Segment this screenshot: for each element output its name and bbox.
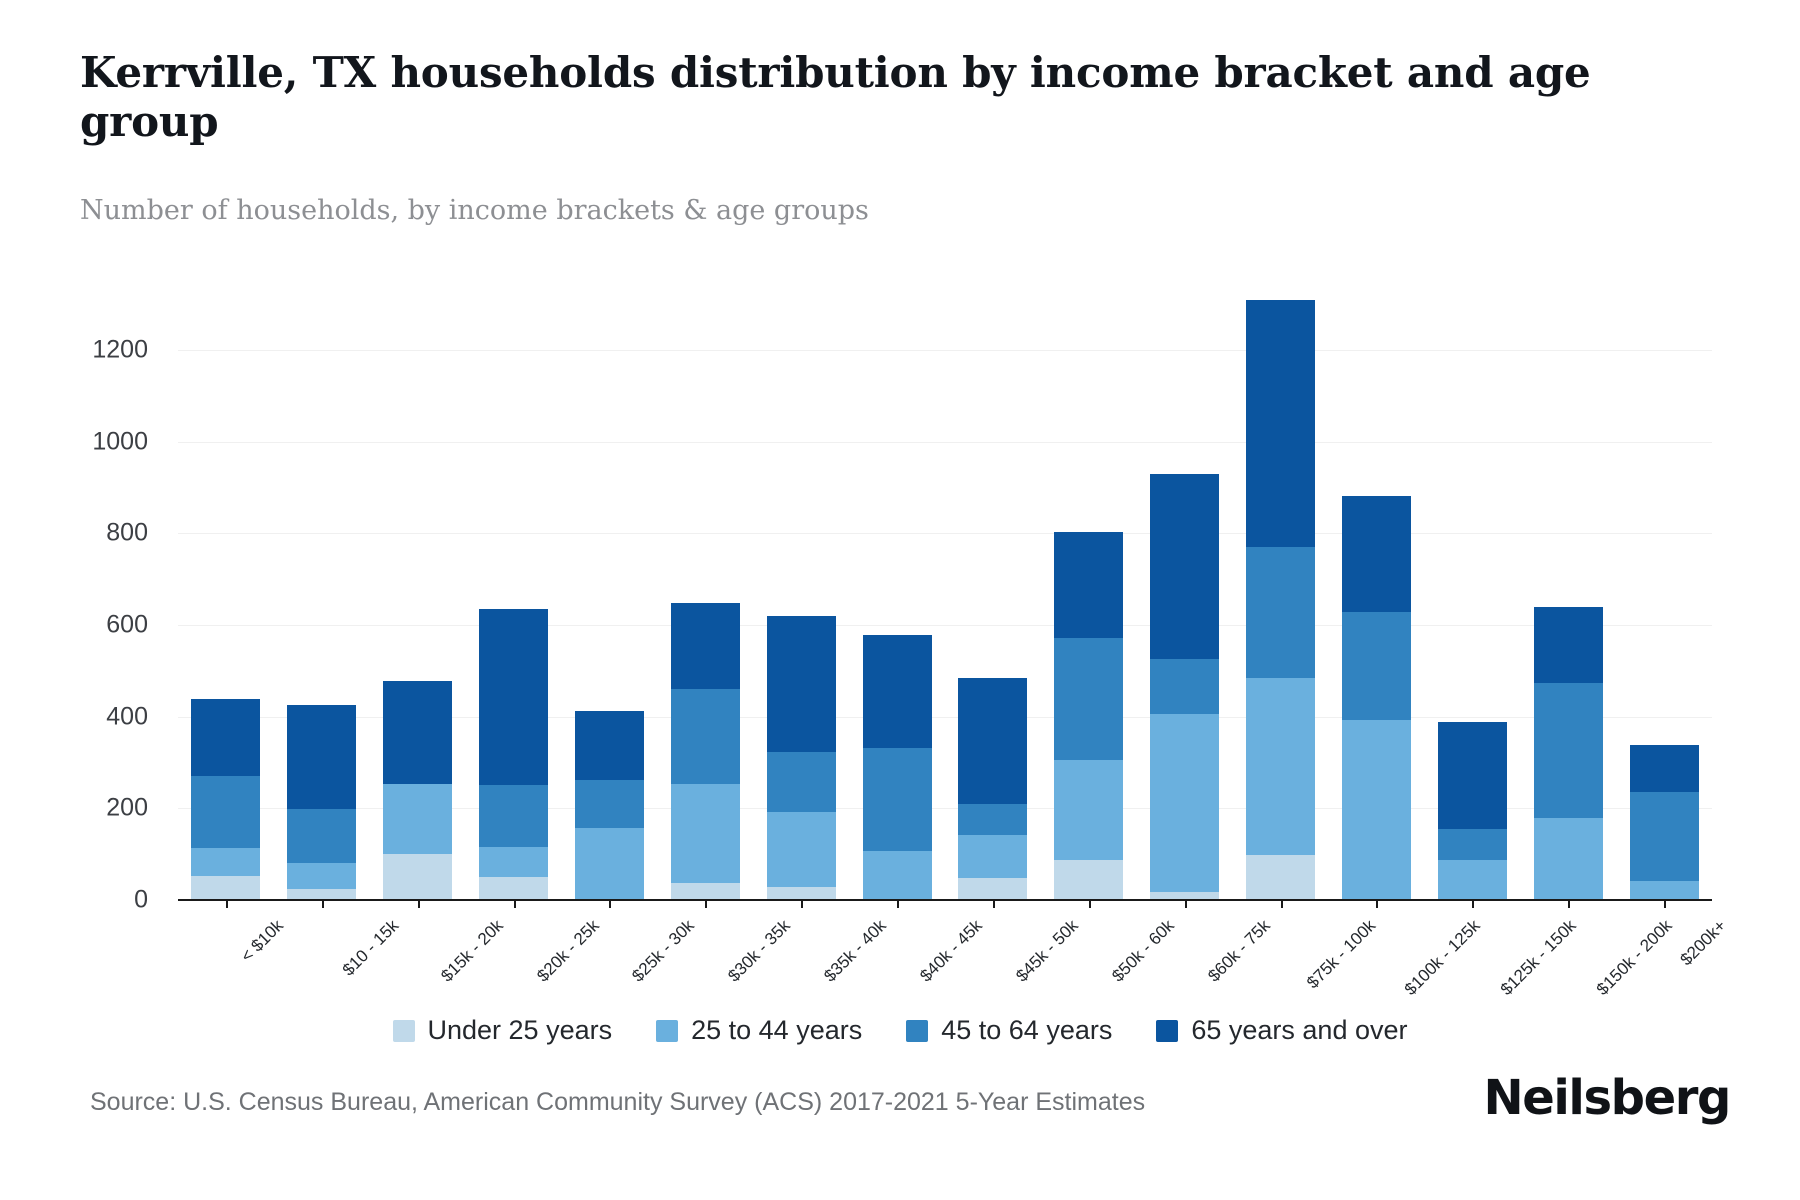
plot-area: < $10k$10 - 15k$15k - 20k$20k - 25k$25k … xyxy=(178,286,1712,900)
bar-group[interactable] xyxy=(1246,300,1315,900)
x-axis-tick-label: $30k - 35k xyxy=(725,916,795,986)
y-axis-tick-label: 600 xyxy=(8,611,148,640)
bar-group[interactable] xyxy=(1150,474,1219,900)
x-axis-line xyxy=(178,899,1712,901)
bar-group[interactable] xyxy=(191,699,260,900)
brand-logo: Neilsberg xyxy=(1483,1070,1730,1126)
x-axis-tick-label: $45k - 50k xyxy=(1012,916,1082,986)
bar-group[interactable] xyxy=(1054,532,1123,900)
bar-group[interactable] xyxy=(863,635,932,900)
y-axis-tick-label: 400 xyxy=(8,702,148,731)
legend-label: 65 years and over xyxy=(1191,1015,1407,1046)
bar-segment[interactable] xyxy=(863,851,932,900)
bar-group[interactable] xyxy=(1534,607,1603,900)
bar-segment[interactable] xyxy=(383,681,452,784)
bar-segment[interactable] xyxy=(767,887,836,900)
bar-group[interactable] xyxy=(383,681,452,900)
bar-segment[interactable] xyxy=(1246,547,1315,678)
bar-segment[interactable] xyxy=(479,847,548,877)
bar-segment[interactable] xyxy=(1054,760,1123,860)
page-subtitle: Number of households, by income brackets… xyxy=(80,195,1480,227)
bar-segment[interactable] xyxy=(671,883,740,900)
x-axis-tick xyxy=(705,900,707,908)
x-axis-tick xyxy=(1568,900,1570,908)
legend-label: Under 25 years xyxy=(428,1015,613,1046)
y-axis-tick-label: 0 xyxy=(8,886,148,915)
bar-segment[interactable] xyxy=(1150,714,1219,891)
x-axis-tick xyxy=(418,900,420,908)
y-axis-tick-label: 200 xyxy=(8,794,148,823)
x-axis-tick-label: $35k - 40k xyxy=(820,916,890,986)
bar-segment[interactable] xyxy=(479,609,548,785)
x-axis-tick xyxy=(1281,900,1283,908)
x-axis-tick xyxy=(1376,900,1378,908)
x-axis-tick xyxy=(993,900,995,908)
bar-segment[interactable] xyxy=(1342,612,1411,721)
legend-label: 45 to 64 years xyxy=(941,1015,1112,1046)
legend-swatch-icon xyxy=(1156,1020,1178,1042)
bar-group[interactable] xyxy=(1438,722,1507,900)
bar-group[interactable] xyxy=(287,705,356,900)
bar-segment[interactable] xyxy=(671,689,740,784)
bar-segment[interactable] xyxy=(958,678,1027,804)
bar-segment[interactable] xyxy=(191,848,260,876)
x-axis-tick-label: $25k - 30k xyxy=(629,916,699,986)
chart-page: Kerrville, TX households distribution by… xyxy=(0,0,1800,1200)
y-axis-tick-label: 1000 xyxy=(8,427,148,456)
bar-group[interactable] xyxy=(671,603,740,900)
bar-series-container xyxy=(178,286,1712,900)
page-title: Kerrville, TX households distribution by… xyxy=(80,48,1640,146)
bar-group[interactable] xyxy=(767,616,836,900)
bar-group[interactable] xyxy=(958,678,1027,900)
bar-segment[interactable] xyxy=(1246,855,1315,900)
bar-segment[interactable] xyxy=(863,748,932,851)
bar-segment[interactable] xyxy=(479,785,548,847)
bar-segment[interactable] xyxy=(1054,532,1123,638)
x-axis-tick-label: < $10k xyxy=(237,916,288,967)
bar-segment[interactable] xyxy=(1246,678,1315,855)
bar-segment[interactable] xyxy=(287,809,356,863)
bar-segment[interactable] xyxy=(767,752,836,812)
bar-segment[interactable] xyxy=(767,616,836,752)
x-axis-tick-label: $10 - 15k xyxy=(339,916,403,980)
bar-segment[interactable] xyxy=(1534,607,1603,684)
x-axis-tick-label: $15k - 20k xyxy=(437,916,507,986)
legend-swatch-icon xyxy=(906,1020,928,1042)
legend-swatch-icon xyxy=(393,1020,415,1042)
bar-segment[interactable] xyxy=(1534,683,1603,818)
x-axis-tick xyxy=(514,900,516,908)
bar-segment[interactable] xyxy=(287,863,356,888)
y-axis-tick-label: 800 xyxy=(8,519,148,548)
bar-segment[interactable] xyxy=(575,828,644,900)
bar-segment[interactable] xyxy=(1150,474,1219,660)
bar-segment[interactable] xyxy=(575,711,644,780)
x-axis-tick xyxy=(322,900,324,908)
bar-segment[interactable] xyxy=(958,804,1027,835)
x-axis-tick xyxy=(1185,900,1187,908)
bar-segment[interactable] xyxy=(287,705,356,809)
bar-group[interactable] xyxy=(1630,745,1699,900)
bar-segment[interactable] xyxy=(767,812,836,887)
x-axis-tick xyxy=(1664,900,1666,908)
x-axis-tick-label: $200k+ xyxy=(1677,916,1731,970)
x-axis-tick-label: $75k - 100k xyxy=(1303,916,1380,993)
legend-item[interactable]: 45 to 64 years xyxy=(906,1015,1112,1046)
x-axis-tick xyxy=(609,900,611,908)
x-axis-tick xyxy=(226,900,228,908)
x-axis-tick-label: $50k - 60k xyxy=(1108,916,1178,986)
y-axis-tick-label: 1200 xyxy=(8,336,148,365)
chart-legend: Under 25 years25 to 44 years45 to 64 yea… xyxy=(0,1015,1800,1046)
x-axis-tick-label: $40k - 45k xyxy=(916,916,986,986)
legend-swatch-icon xyxy=(656,1020,678,1042)
bar-segment[interactable] xyxy=(863,635,932,748)
legend-item[interactable]: 65 years and over xyxy=(1156,1015,1407,1046)
x-axis-tick-label: $20k - 25k xyxy=(533,916,603,986)
bar-segment[interactable] xyxy=(1630,745,1699,792)
x-axis-tick xyxy=(897,900,899,908)
bar-segment[interactable] xyxy=(575,780,644,828)
bar-group[interactable] xyxy=(479,609,548,900)
x-axis-tick-label: $150k - 200k xyxy=(1593,916,1677,1000)
legend-item[interactable]: Under 25 years xyxy=(393,1015,613,1046)
x-axis-tick-label: $125k - 150k xyxy=(1497,916,1581,1000)
bar-segment[interactable] xyxy=(479,877,548,900)
bar-segment[interactable] xyxy=(671,784,740,883)
bar-segment[interactable] xyxy=(1534,818,1603,900)
x-axis-tick xyxy=(1472,900,1474,908)
x-axis-tick-label: $60k - 75k xyxy=(1204,916,1274,986)
bar-segment[interactable] xyxy=(191,776,260,847)
x-axis-tick xyxy=(801,900,803,908)
legend-label: 25 to 44 years xyxy=(691,1015,862,1046)
bar-segment[interactable] xyxy=(1438,860,1507,900)
legend-item[interactable]: 25 to 44 years xyxy=(656,1015,862,1046)
bar-segment[interactable] xyxy=(191,876,260,900)
bar-segment[interactable] xyxy=(958,835,1027,878)
source-note: Source: U.S. Census Bureau, American Com… xyxy=(90,1088,1145,1117)
bar-segment[interactable] xyxy=(1438,722,1507,829)
bar-segment[interactable] xyxy=(671,603,740,689)
bar-segment[interactable] xyxy=(383,854,452,900)
bar-segment[interactable] xyxy=(958,878,1027,900)
bar-segment[interactable] xyxy=(1438,829,1507,860)
x-axis-tick-label: $100k - 125k xyxy=(1401,916,1485,1000)
bar-segment[interactable] xyxy=(1246,300,1315,547)
bar-segment[interactable] xyxy=(1054,860,1123,900)
bar-segment[interactable] xyxy=(1630,792,1699,881)
bar-segment[interactable] xyxy=(1630,881,1699,900)
bar-segment[interactable] xyxy=(1054,638,1123,759)
bar-segment[interactable] xyxy=(1342,496,1411,611)
x-axis-tick xyxy=(1089,900,1091,908)
bar-segment[interactable] xyxy=(1342,720,1411,900)
bar-segment[interactable] xyxy=(191,699,260,776)
bar-segment[interactable] xyxy=(1150,659,1219,714)
bar-group[interactable] xyxy=(1342,496,1411,900)
bar-segment[interactable] xyxy=(383,784,452,854)
bar-group[interactable] xyxy=(575,711,644,900)
